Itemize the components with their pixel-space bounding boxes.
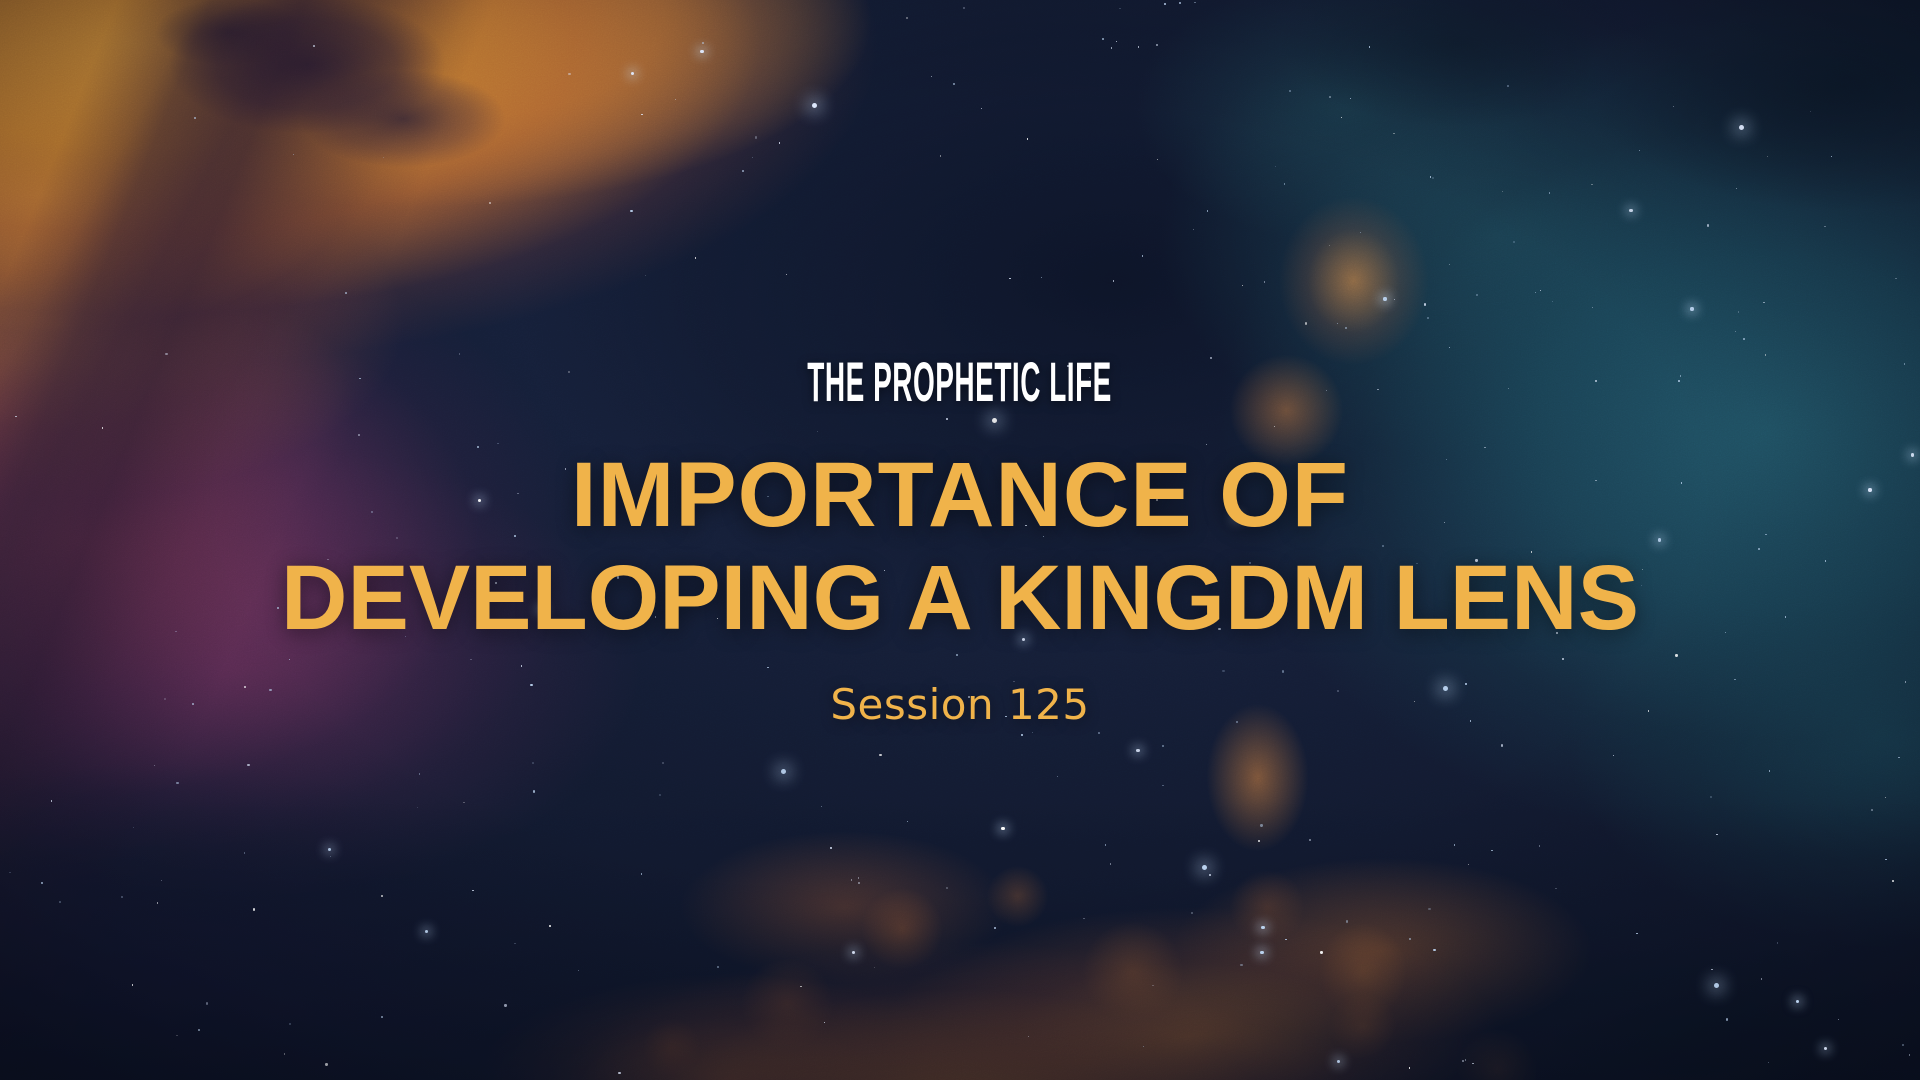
page-title: IMPORTANCE OF DEVELOPING A KINGDM LENS bbox=[281, 444, 1639, 650]
page-title-line-1: IMPORTANCE OF bbox=[281, 444, 1639, 547]
session-label: Session 125 bbox=[830, 684, 1089, 726]
page-title-line-2: DEVELOPING A KINGDM LENS bbox=[281, 547, 1639, 650]
series-kicker: THE PROPHETIC LIFE bbox=[808, 354, 1113, 410]
title-content-block: THE PROPHETIC LIFE IMPORTANCE OF DEVELOP… bbox=[0, 0, 1920, 1080]
title-slide: THE PROPHETIC LIFE IMPORTANCE OF DEVELOP… bbox=[0, 0, 1920, 1080]
